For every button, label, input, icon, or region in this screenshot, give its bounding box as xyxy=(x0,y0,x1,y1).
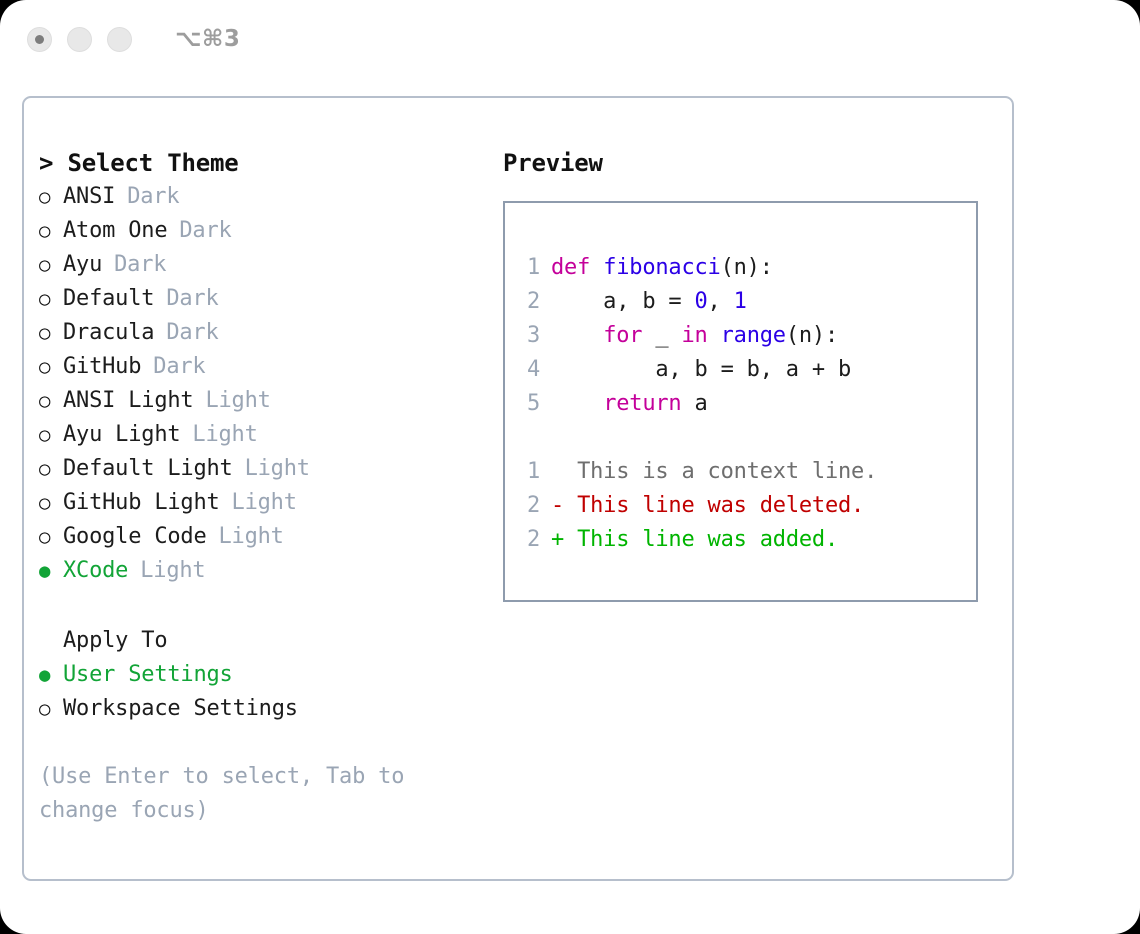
code-line-content: def fibonacci(n): xyxy=(551,251,773,285)
radio-unselected-icon: ○ xyxy=(39,384,63,418)
theme-option-list: ○ANSIDark○Atom OneDark○AyuDark○DefaultDa… xyxy=(39,180,489,588)
code-token-kw: for xyxy=(603,323,642,348)
apply-to-option-user-settings[interactable]: ●User Settings xyxy=(39,658,489,692)
code-token-pl: a xyxy=(681,391,707,416)
diff-line-number: 1 xyxy=(505,455,551,489)
radio-unselected-icon: ○ xyxy=(39,452,63,486)
theme-option-label: Ayu Light xyxy=(63,418,180,452)
code-token-pl: (n): xyxy=(786,323,838,348)
code-line-number: 2 xyxy=(505,285,551,319)
theme-option-kind-badge: Dark xyxy=(166,316,218,350)
code-line-content: a, b = b, a + b xyxy=(551,353,851,387)
theme-option-label: Google Code xyxy=(63,520,207,554)
diff-sign: + xyxy=(551,523,577,557)
apply-to-option-label: Workspace Settings xyxy=(63,692,298,726)
code-line-number: 3 xyxy=(505,319,551,353)
radio-selected-icon: ● xyxy=(39,658,63,692)
preview-column: Preview 1def fibonacci(n):2 a, b = 0, 13… xyxy=(503,146,993,602)
theme-option-ayu-light[interactable]: ○Ayu LightLight xyxy=(39,418,489,452)
theme-picker-card: > Select Theme ○ANSIDark○Atom OneDark○Ay… xyxy=(22,96,1014,881)
window-dot-2[interactable] xyxy=(67,27,92,52)
radio-unselected-icon: ○ xyxy=(39,486,63,520)
code-preview-box: 1def fibonacci(n):2 a, b = 0, 13 for _ i… xyxy=(503,201,978,602)
apply-to-option-list: ●User Settings○Workspace Settings xyxy=(39,658,489,726)
theme-option-xcode[interactable]: ●XCodeLight xyxy=(39,554,489,588)
code-token-pl: , xyxy=(708,289,734,314)
code-line-number: 1 xyxy=(505,251,551,285)
code-token-pl: _ xyxy=(642,323,681,348)
code-token-num: 0 xyxy=(695,289,708,314)
code-line: 3 for _ in range(n): xyxy=(505,319,976,353)
diff-line-content: This line was added. xyxy=(577,523,838,557)
theme-option-label: Default xyxy=(63,282,154,316)
window-dot-active-inner xyxy=(35,35,44,44)
theme-option-label: Dracula xyxy=(63,316,154,350)
code-token-pl xyxy=(551,391,603,416)
diff-sign xyxy=(551,455,577,489)
theme-option-kind-badge: Dark xyxy=(114,248,166,282)
radio-unselected-icon: ○ xyxy=(39,418,63,452)
theme-option-default[interactable]: ○DefaultDark xyxy=(39,282,489,316)
diff-sample: 1 This is a context line.2- This line wa… xyxy=(505,455,976,557)
code-token-kw: in xyxy=(681,323,707,348)
diff-spacer xyxy=(505,421,976,455)
theme-option-default-light[interactable]: ○Default LightLight xyxy=(39,452,489,486)
radio-unselected-icon: ○ xyxy=(39,282,63,316)
diff-line-del: 2- This line was deleted. xyxy=(505,489,976,523)
radio-unselected-icon: ○ xyxy=(39,350,63,384)
code-line-content: for _ in range(n): xyxy=(551,319,838,353)
theme-option-ansi[interactable]: ○ANSIDark xyxy=(39,180,489,214)
theme-option-kind-badge: Dark xyxy=(153,350,205,384)
theme-option-kind-badge: Dark xyxy=(179,214,231,248)
theme-option-label: GitHub xyxy=(63,350,141,384)
code-sample: 1def fibonacci(n):2 a, b = 0, 13 for _ i… xyxy=(505,251,976,421)
radio-unselected-icon: ○ xyxy=(39,214,63,248)
code-line-number: 5 xyxy=(505,387,551,421)
apply-to-option-workspace-settings[interactable]: ○Workspace Settings xyxy=(39,692,489,726)
theme-option-label: Atom One xyxy=(63,214,167,248)
theme-option-label: XCode xyxy=(63,554,128,588)
code-line-content: a, b = 0, 1 xyxy=(551,285,747,319)
keyboard-hint-text: (Use Enter to select, Tab to change focu… xyxy=(39,760,439,828)
window-dot-active[interactable] xyxy=(27,27,52,52)
code-token-fn: fibonacci xyxy=(603,255,720,280)
theme-option-label: Ayu xyxy=(63,248,102,282)
section-spacer xyxy=(39,588,489,624)
theme-option-ansi-light[interactable]: ○ANSI LightLight xyxy=(39,384,489,418)
page-title: > Select Theme xyxy=(39,146,489,180)
code-line-number: 4 xyxy=(505,353,551,387)
code-line: 1def fibonacci(n): xyxy=(505,251,976,285)
code-token-pl xyxy=(551,323,603,348)
diff-line-number: 2 xyxy=(505,523,551,557)
theme-option-kind-badge: Light xyxy=(232,486,297,520)
apply-to-option-label: User Settings xyxy=(63,658,233,692)
code-token-kw: def xyxy=(551,255,603,280)
theme-option-atom-one[interactable]: ○Atom OneDark xyxy=(39,214,489,248)
radio-unselected-icon: ○ xyxy=(39,316,63,350)
apply-to-heading: Apply To xyxy=(39,624,489,658)
theme-option-dracula[interactable]: ○DraculaDark xyxy=(39,316,489,350)
theme-option-label: ANSI Light xyxy=(63,384,193,418)
theme-option-github-light[interactable]: ○GitHub LightLight xyxy=(39,486,489,520)
theme-option-kind-badge: Dark xyxy=(127,180,179,214)
theme-selection-column: > Select Theme ○ANSIDark○Atom OneDark○Ay… xyxy=(39,146,489,828)
theme-option-github[interactable]: ○GitHubDark xyxy=(39,350,489,384)
diff-line-content: This line was deleted. xyxy=(577,489,864,523)
theme-option-label: Default Light xyxy=(63,452,233,486)
window-dot-3[interactable] xyxy=(107,27,132,52)
radio-unselected-icon: ○ xyxy=(39,180,63,214)
code-line: 2 a, b = 0, 1 xyxy=(505,285,976,319)
theme-option-ayu[interactable]: ○AyuDark xyxy=(39,248,489,282)
app-window: ⌥⌘3 > Select Theme ○ANSIDark○Atom OneDar… xyxy=(0,0,1140,934)
theme-option-kind-badge: Dark xyxy=(166,282,218,316)
radio-unselected-icon: ○ xyxy=(39,520,63,554)
code-line: 4 a, b = b, a + b xyxy=(505,353,976,387)
code-token-pl: (n): xyxy=(721,255,773,280)
diff-line-number: 2 xyxy=(505,489,551,523)
window-titlebar: ⌥⌘3 xyxy=(0,0,1140,78)
preview-title: Preview xyxy=(503,146,993,180)
theme-option-kind-badge: Light xyxy=(219,520,284,554)
diff-line-content: This is a context line. xyxy=(577,455,877,489)
theme-option-label: ANSI xyxy=(63,180,115,214)
code-token-pl: a, b = b, a + b xyxy=(551,357,851,382)
radio-selected-icon: ● xyxy=(39,554,63,588)
theme-option-label: GitHub Light xyxy=(63,486,220,520)
radio-unselected-icon: ○ xyxy=(39,692,63,726)
code-line: 5 return a xyxy=(505,387,976,421)
theme-option-kind-badge: Light xyxy=(245,452,310,486)
diff-line-ctx: 1 This is a context line. xyxy=(505,455,976,489)
code-token-pl: a, b = xyxy=(551,289,695,314)
code-token-fn: range xyxy=(721,323,786,348)
theme-option-kind-badge: Light xyxy=(205,384,270,418)
diff-sign: - xyxy=(551,489,577,523)
code-token-pl xyxy=(708,323,721,348)
theme-option-kind-badge: Light xyxy=(192,418,257,452)
diff-line-add: 2+ This line was added. xyxy=(505,523,976,557)
theme-option-google-code[interactable]: ○Google CodeLight xyxy=(39,520,489,554)
keyboard-shortcut-label: ⌥⌘3 xyxy=(175,26,240,52)
theme-option-kind-badge: Light xyxy=(140,554,205,588)
code-token-kw: return xyxy=(603,391,681,416)
code-line-content: return a xyxy=(551,387,708,421)
code-token-num: 1 xyxy=(734,289,747,314)
radio-unselected-icon: ○ xyxy=(39,248,63,282)
